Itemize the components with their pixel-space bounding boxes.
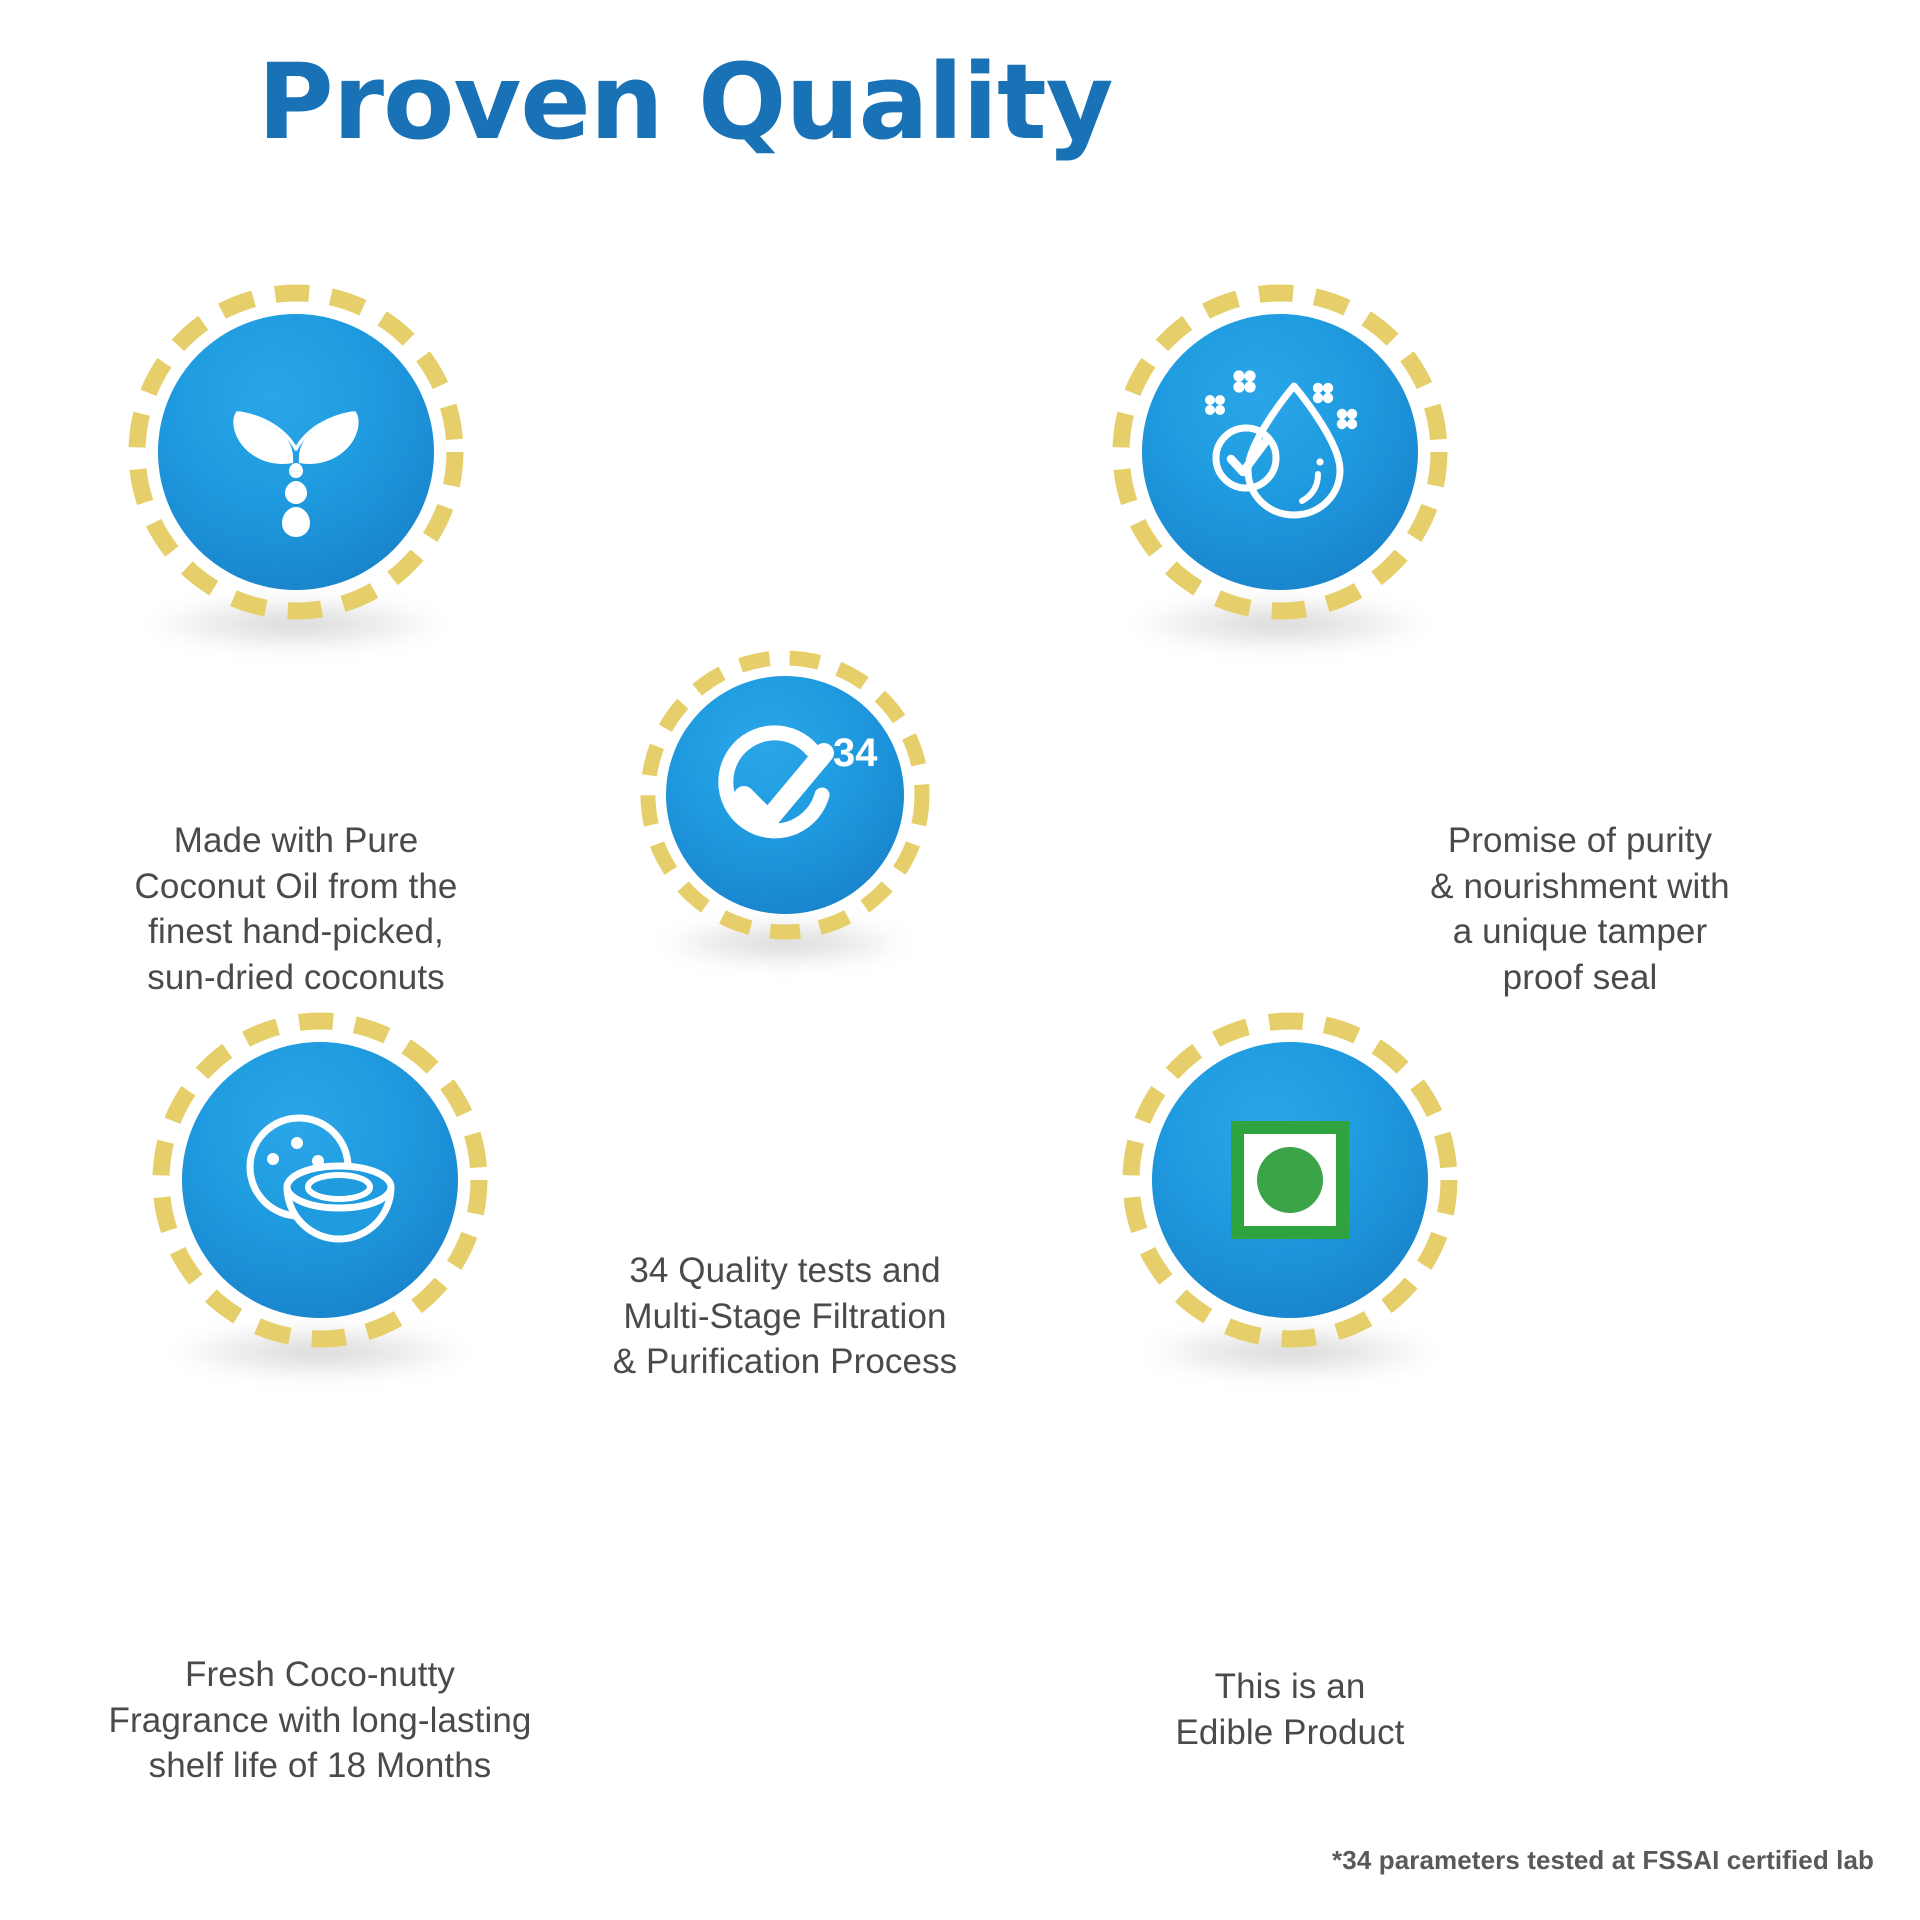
- badge-ring: [1112, 284, 1448, 620]
- badge-disc: [1152, 1042, 1428, 1318]
- badge-disc: [158, 314, 434, 590]
- circle-check-34-icon: 34: [690, 720, 880, 870]
- badge-quality-tests: 34: [640, 650, 930, 940]
- badge-disc: [182, 1042, 458, 1318]
- caption-line: proof seal: [1330, 955, 1830, 1001]
- infographic-canvas: Proven Quality: [0, 0, 1920, 1920]
- caption-line: a unique tamper: [1330, 909, 1830, 955]
- page-title: Proven Quality: [0, 48, 1370, 157]
- badge-disc: 34: [666, 676, 904, 914]
- coconut-leaf-drop-icon: [211, 367, 381, 537]
- caption-line: & Purification Process: [560, 1339, 1010, 1385]
- coconut-halves-icon: [225, 1095, 415, 1265]
- badge-ring: [128, 284, 464, 620]
- badge-ring: [152, 1012, 488, 1348]
- veg-dot: [1257, 1147, 1323, 1213]
- vegetarian-green-dot-icon: [1231, 1121, 1349, 1239]
- badge-number-34: 34: [833, 731, 878, 775]
- caption-line: finest hand-picked,: [56, 909, 536, 955]
- badge-disc: [1142, 314, 1418, 590]
- badge-coco-nutty-fragrance: [152, 1012, 488, 1348]
- caption-edible-product: This is an Edible Product: [1090, 1664, 1490, 1755]
- badge-edible-product: [1122, 1012, 1458, 1348]
- caption-pure-coconut-oil: Made with Pure Coconut Oil from the fine…: [56, 818, 536, 1000]
- caption-line: Made with Pure: [56, 818, 536, 864]
- footnote-text: *34 parameters tested at FSSAI certified…: [1332, 1845, 1874, 1876]
- caption-purity-tamper-proof: Promise of purity & nourishment with a u…: [1330, 818, 1830, 1000]
- caption-line: Edible Product: [1090, 1710, 1490, 1756]
- caption-coco-nutty-fragrance: Fresh Coco-nutty Fragrance with long-las…: [60, 1652, 580, 1789]
- caption-quality-tests: 34 Quality tests and Multi-Stage Filtrat…: [560, 1248, 1010, 1385]
- water-drop-check-sparkle-icon: [1190, 362, 1370, 542]
- caption-line: 34 Quality tests and: [560, 1248, 1010, 1294]
- badge-purity-tamper-proof: [1112, 284, 1448, 620]
- badge-ring: [1122, 1012, 1458, 1348]
- caption-line: Fragrance with long-lasting: [60, 1698, 580, 1744]
- caption-line: shelf life of 18 Months: [60, 1743, 580, 1789]
- badge-ring: 34: [640, 650, 930, 940]
- caption-line: sun-dried coconuts: [56, 955, 536, 1001]
- caption-line: This is an: [1090, 1664, 1490, 1710]
- caption-line: Coconut Oil from the: [56, 864, 536, 910]
- caption-line: Multi-Stage Filtration: [560, 1294, 1010, 1340]
- badge-pure-coconut-oil: [128, 284, 464, 620]
- caption-line: Promise of purity: [1330, 818, 1830, 864]
- caption-line: Fresh Coco-nutty: [60, 1652, 580, 1698]
- caption-line: & nourishment with: [1330, 864, 1830, 910]
